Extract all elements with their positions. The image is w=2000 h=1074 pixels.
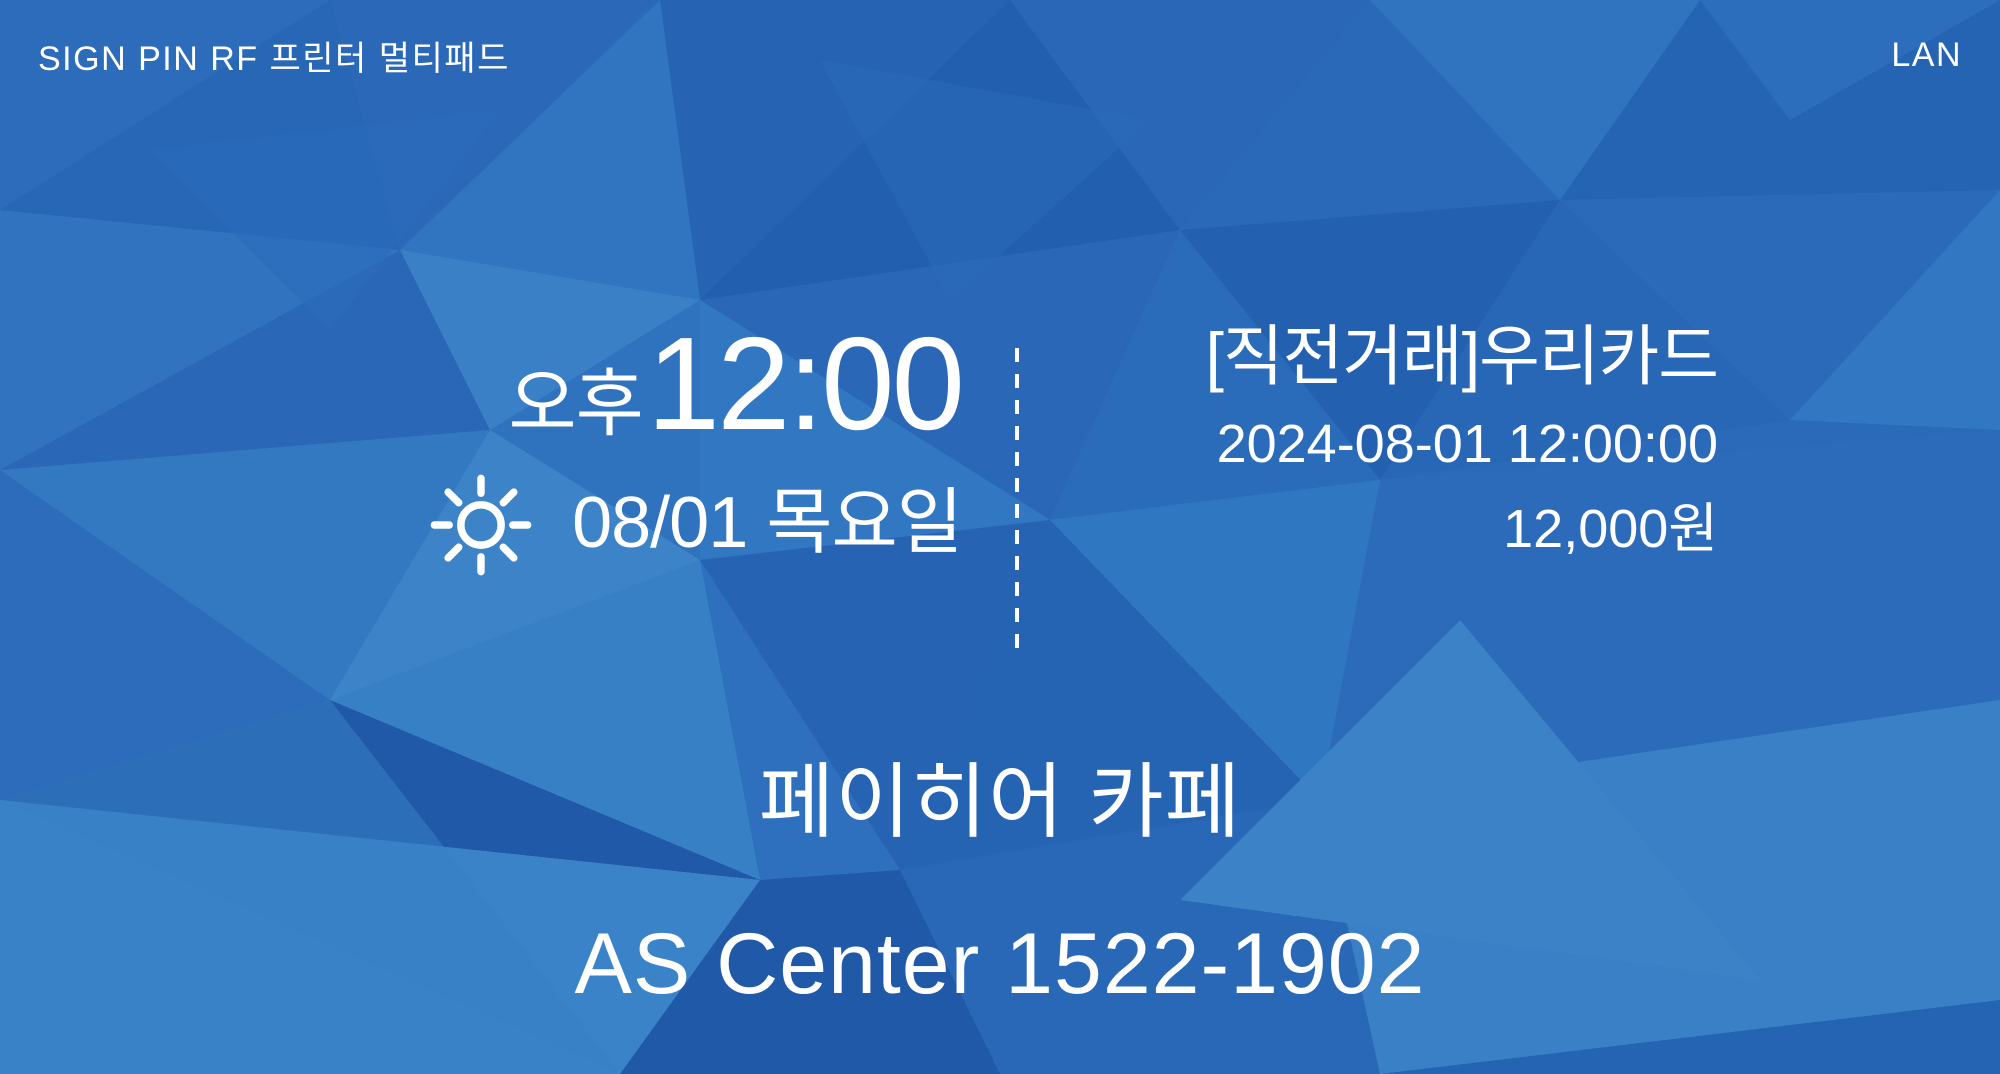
clock-time: 12:00: [647, 318, 962, 450]
as-center-contact: AS Center 1522-1902: [0, 915, 2000, 1014]
transaction-datetime: 2024-08-01 12:00:00: [1065, 408, 1718, 481]
clock-time-row: 오후 12:00: [509, 318, 963, 450]
network-status-label: LAN: [1891, 36, 1962, 75]
store-name: 페이히어 카페: [0, 735, 2000, 854]
clock-date-row: 08/01 목요일: [428, 468, 962, 578]
transaction-section: [직전거래]우리카드 2024-08-01 12:00:00 12,000원: [1020, 318, 1780, 658]
transaction-amount: 12,000원: [1065, 493, 1718, 566]
header-title: SIGN PIN RF 프린터 멀티패드: [38, 31, 510, 80]
transaction-title: [직전거래]우리카드: [1065, 318, 1718, 396]
info-panel: 오후 12:00: [0, 318, 2000, 658]
clock-date: 08/01 목요일: [572, 487, 962, 559]
clock-section: 오후 12:00: [0, 318, 1017, 658]
digital-signage-screen: SIGN PIN RF 프린터 멀티패드 LAN 오후 12:00: [0, 0, 2000, 1074]
sun-icon: [428, 472, 534, 578]
header-bar: SIGN PIN RF 프린터 멀티패드 LAN: [0, 0, 2000, 110]
vertical-dashed-divider: [1015, 348, 1019, 648]
clock-ampm-label: 오후: [509, 367, 643, 441]
